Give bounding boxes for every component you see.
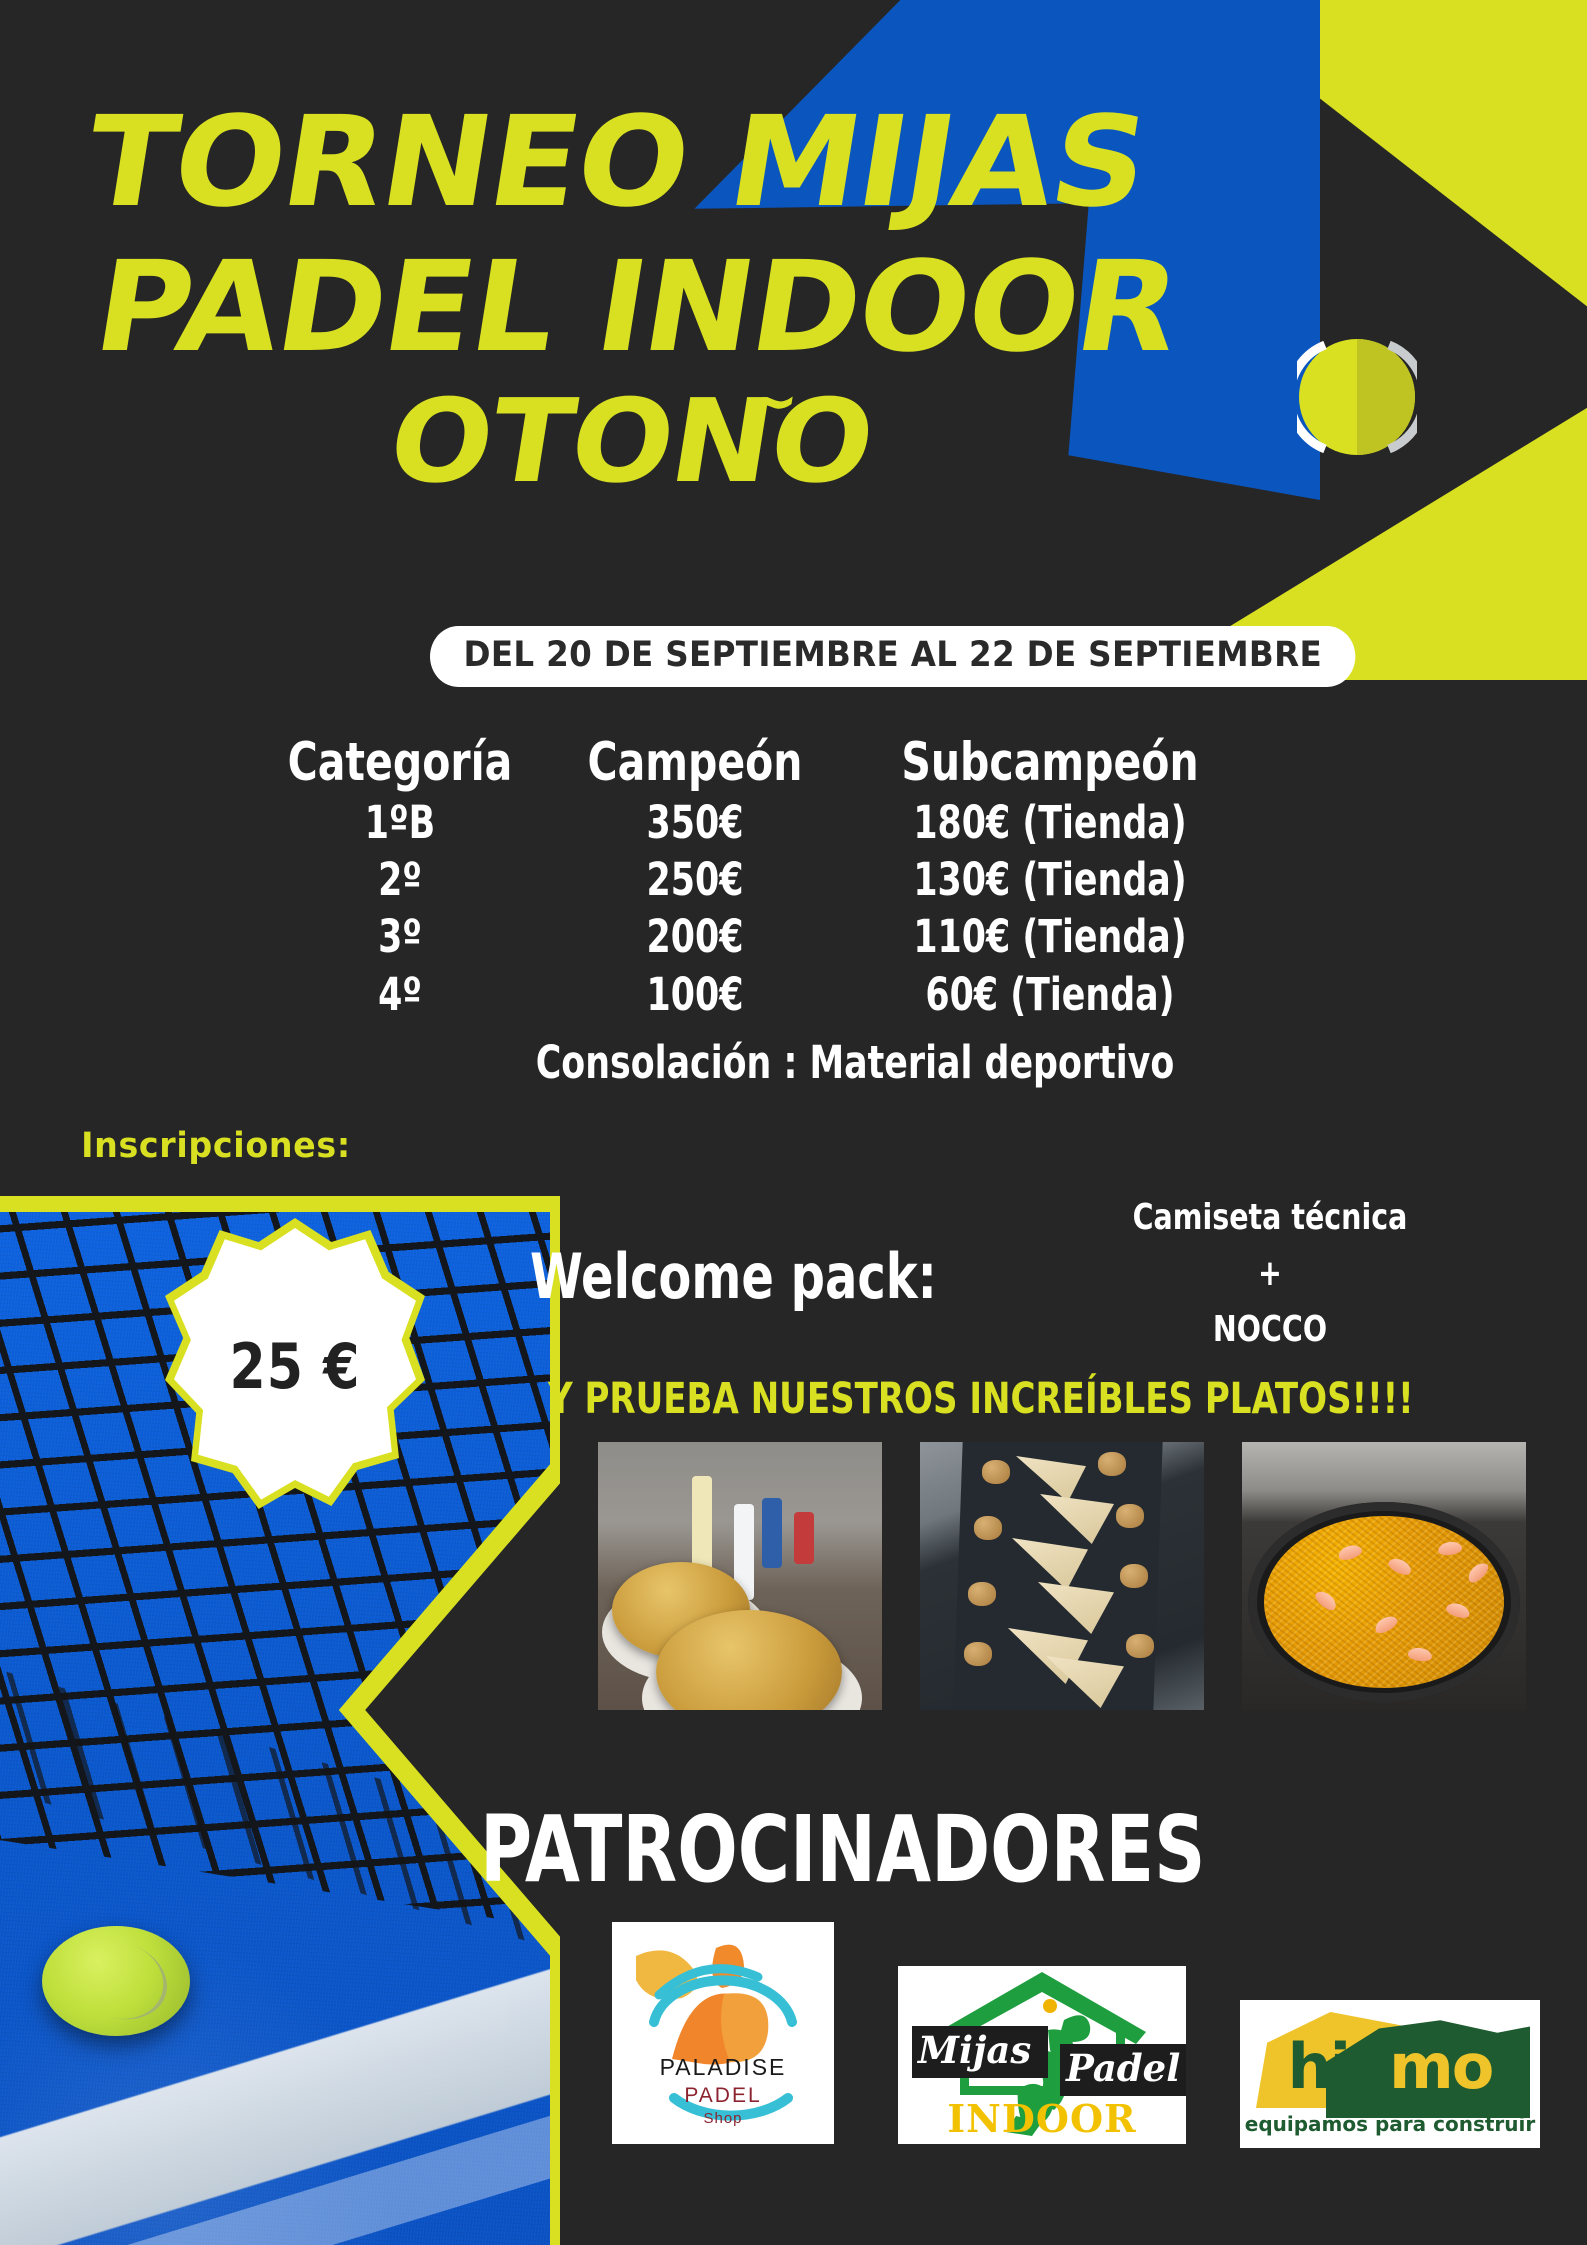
- welcome-pack-item-1: Camiseta técnica: [1112, 1190, 1429, 1246]
- welcome-pack-label: Welcome pack:: [530, 1240, 937, 1313]
- hiemo-tagline: equipamos para construir: [1240, 2112, 1540, 2136]
- title-line-1: TORNEO MIJAS: [79, 105, 1155, 220]
- walnut: [1120, 1564, 1148, 1588]
- walnut: [968, 1582, 996, 1606]
- paella-rice: [1264, 1516, 1504, 1688]
- walnut: [974, 1516, 1002, 1540]
- tortilla-de-patatas-photo: [598, 1442, 882, 1710]
- food-headline: Y PRUEBA NUESTROS INCREÍBLES PLATOS!!!!: [548, 1374, 1414, 1424]
- mijas-line-3: INDOOR: [898, 2096, 1186, 2141]
- table-row: 1ºB 350€ 180€ (Tienda): [250, 797, 1360, 848]
- walnut: [964, 1642, 992, 1666]
- cell-subcampeon: 130€ (Tienda): [869, 854, 1230, 905]
- date-banner: DEL 20 DE SEPTIEMBRE AL 22 DE SEPTIEMBRE: [430, 626, 1356, 687]
- paladise-line-1: PALADISE: [612, 2054, 834, 2081]
- registration-price-badge: 25 €: [165, 1218, 425, 1518]
- cell-campeon: 250€: [570, 854, 819, 905]
- cell-categoria: 2º: [271, 854, 529, 905]
- cell-subcampeon: 60€ (Tienda): [869, 969, 1230, 1020]
- table-row: 4º 100€ 60€ (Tienda): [250, 969, 1360, 1020]
- paladise-line-2: PADEL: [612, 2084, 834, 2108]
- cell-campeon: 350€: [570, 797, 819, 848]
- cell-categoria: 3º: [271, 911, 529, 962]
- sponsor-logo-paladise[interactable]: PALADISE PADEL Shop: [612, 1922, 834, 2144]
- walnut: [1116, 1504, 1144, 1528]
- cell-subcampeon: 180€ (Tienda): [869, 797, 1230, 848]
- walnut: [1098, 1452, 1126, 1476]
- sponsors-heading: PATROCINADORES: [480, 1796, 1205, 1903]
- prize-table: Categoría Campeón Subcampeón 1ºB 350€ 18…: [250, 735, 1360, 1089]
- cell-categoria: 4º: [271, 969, 529, 1020]
- table-row: 3º 200€ 110€ (Tienda): [250, 911, 1360, 962]
- cell-campeon: 200€: [570, 911, 819, 962]
- tennis-ball-icon: [1297, 337, 1417, 457]
- mijas-line-1: Mijas: [912, 2026, 1048, 2078]
- food-photo-strip: [598, 1442, 1528, 1710]
- mijas-line-2: Padel: [1060, 2044, 1186, 2096]
- walnut: [982, 1460, 1010, 1484]
- sponsor-logo-hiemo[interactable]: hiemo equipamos para construir: [1240, 2000, 1540, 2148]
- registration-price-value: 25 €: [186, 1218, 404, 1518]
- column-header-campeon: Campeón: [570, 735, 819, 791]
- cell-categoria: 1ºB: [271, 797, 529, 848]
- tennis-ball-photo: [42, 1926, 190, 2036]
- consolation-prize-text: Consolación : Material deportivo: [421, 1036, 1290, 1089]
- hiemo-word-part-a: hie: [1288, 2030, 1389, 2103]
- paella-photo: [1242, 1442, 1526, 1710]
- title-line-2: PADEL INDOOR: [88, 250, 1186, 365]
- bottle-icon: [794, 1512, 814, 1564]
- poster-canvas: TORNEO MIJAS PADEL INDOOR ~ OTONO DEL 20…: [0, 0, 1587, 2245]
- column-header-categoria: Categoría: [271, 735, 529, 791]
- cell-campeon: 100€: [570, 969, 819, 1020]
- paladise-line-3: Shop: [612, 2110, 834, 2127]
- bottle-icon: [762, 1498, 782, 1568]
- cheese-and-walnut-platter-photo: [920, 1442, 1204, 1710]
- walnut: [1126, 1634, 1154, 1658]
- table-row: 2º 250€ 130€ (Tienda): [250, 854, 1360, 905]
- prize-table-header-row: Categoría Campeón Subcampeón: [250, 735, 1360, 791]
- welcome-pack-plus: +: [1112, 1246, 1429, 1302]
- welcome-pack-contents: Camiseta técnica + NOCCO: [1112, 1190, 1429, 1357]
- title-line-3: OTONO: [382, 390, 879, 496]
- cell-subcampeon: 110€ (Tienda): [869, 911, 1230, 962]
- registration-label: Inscripciones:: [81, 1126, 351, 1166]
- hiemo-wordmark: hiemo: [1240, 2030, 1540, 2103]
- sponsor-logo-mijas-padel-indoor[interactable]: Mijas Padel INDOOR: [898, 1966, 1186, 2144]
- column-header-subcampeon: Subcampeón: [869, 735, 1230, 791]
- hiemo-word-part-b: mo: [1389, 2030, 1492, 2103]
- welcome-pack-item-2: NOCCO: [1112, 1302, 1429, 1358]
